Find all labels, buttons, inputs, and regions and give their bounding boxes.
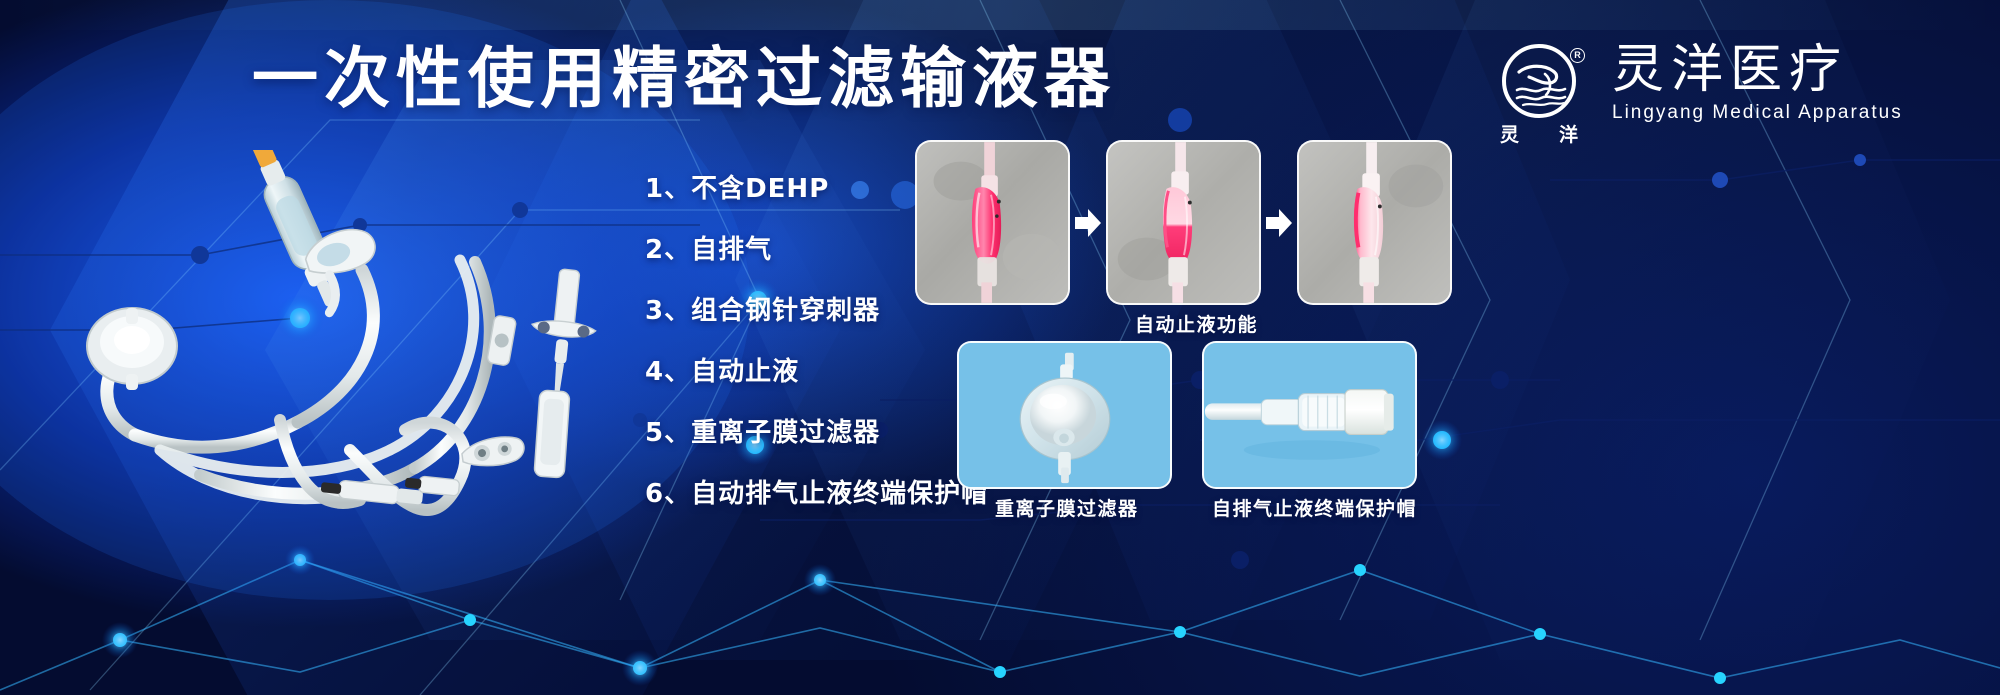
brand-name-cn: 灵洋医疗 — [1612, 44, 1903, 97]
sequence-photo-3 — [1297, 140, 1452, 305]
sequence-photo-1 — [915, 140, 1070, 305]
logo-emblem-char-1: 灵 — [1500, 120, 1519, 147]
cap-photo — [1204, 343, 1415, 487]
brand-name-block: 灵洋医疗 Lingyang Medical Apparatus — [1612, 44, 1903, 124]
feature-item-5: 5、重离子膜过滤器 — [645, 416, 985, 477]
round-filter-part — [87, 308, 177, 390]
feature-item-4: 4、自动止液 — [645, 355, 985, 416]
auto-stop-sequence — [915, 140, 1452, 305]
panel-caption-cap: 自排气止液终端保护帽 — [1212, 494, 1417, 521]
sequence-arrow-1-icon — [1070, 208, 1106, 238]
product-banner: 一次性使用精密过滤输液器 R 灵 洋 灵洋医疗 Lingyang Medical… — [0, 0, 2000, 695]
protective-cap-part — [534, 390, 570, 478]
product-panel-cap — [1202, 341, 1417, 489]
flow-regulator-part — [460, 434, 526, 470]
brand-name-en: Lingyang Medical Apparatus — [1612, 102, 1903, 124]
panel-caption-filter: 重离子膜过滤器 — [995, 494, 1139, 521]
logo-emblem-caption: 灵 洋 — [1500, 120, 1578, 147]
logo-circle-icon — [1502, 44, 1576, 118]
logo-emblem-char-2: 洋 — [1559, 120, 1578, 147]
product-panel-group — [957, 341, 1417, 489]
filter-photo — [959, 343, 1170, 487]
registered-trademark-icon: R — [1570, 48, 1585, 63]
logo-wave-icon — [1515, 62, 1567, 108]
sequence-caption: 自动止液功能 — [1135, 310, 1258, 337]
feature-item-6: 6、自动排气止液终端保护帽 — [645, 477, 985, 538]
sequence-photo-2 — [1106, 140, 1261, 305]
brand-logo: R 灵 洋 灵洋医疗 Lingyang Medical Apparatus — [1500, 44, 1903, 144]
product-panel-filter — [957, 341, 1172, 489]
sequence-arrow-2-icon — [1261, 208, 1297, 238]
product-photo-infusion-set — [40, 150, 700, 570]
logo-emblem: R 灵 洋 — [1500, 44, 1586, 144]
page-title: 一次性使用精密过滤输液器 — [252, 46, 1116, 112]
